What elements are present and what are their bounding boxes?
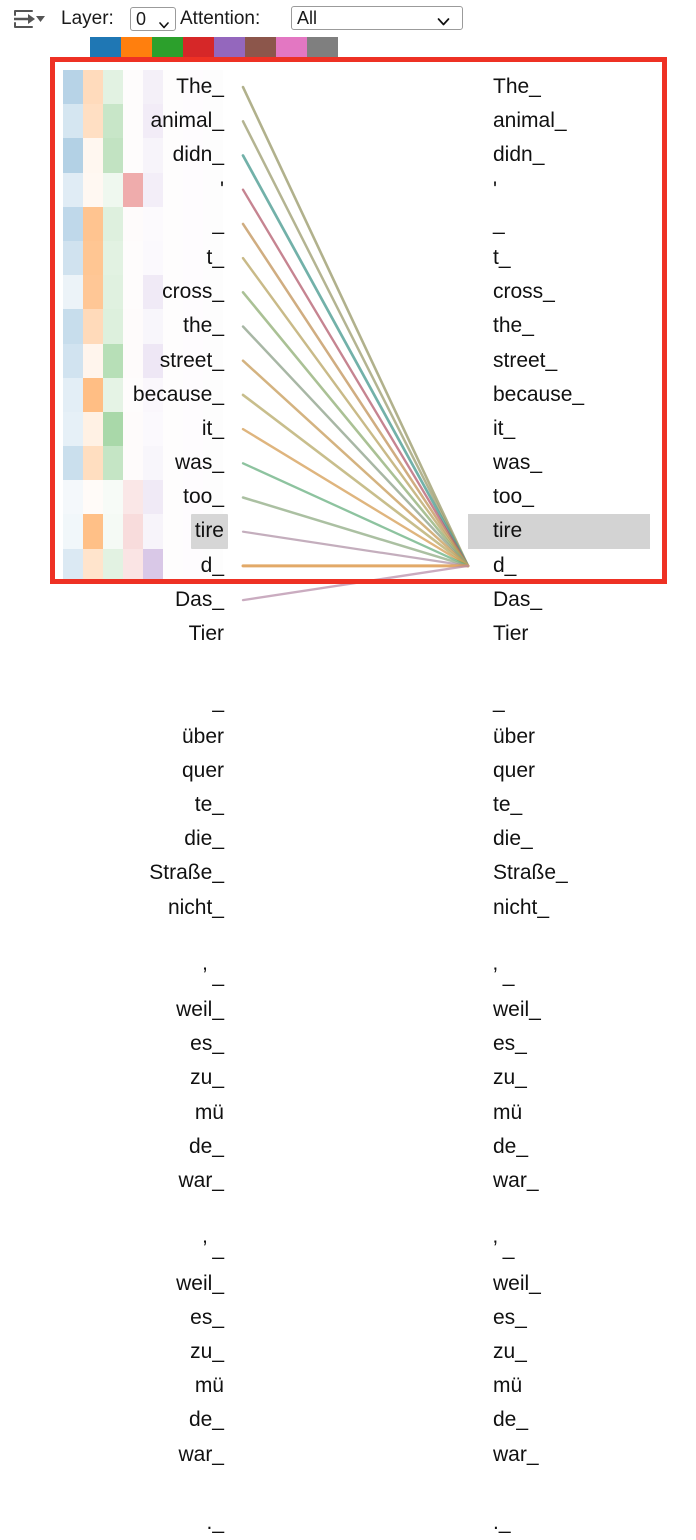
target-token[interactable]: too_ — [468, 480, 696, 514]
source-token[interactable]: nicht_ — [0, 891, 232, 925]
source-token[interactable]: es_ — [0, 1301, 232, 1335]
token-text: tire — [493, 519, 522, 542]
token-text: t_ — [493, 246, 511, 269]
token-text: d_ — [493, 554, 516, 577]
token-text: too_ — [493, 485, 534, 508]
token-text: de_ — [493, 1135, 528, 1158]
target-token[interactable]: mü — [468, 1369, 696, 1403]
target-token[interactable]: The_ — [468, 70, 696, 104]
source-token[interactable]: mü — [0, 1096, 232, 1130]
token-text: war_ — [493, 1443, 539, 1466]
target-token[interactable]: weil_ — [468, 1267, 696, 1301]
token-text: ’ _ — [493, 964, 514, 987]
token-text: the_ — [493, 314, 534, 337]
token-text: zu_ — [493, 1340, 527, 1363]
source-token[interactable]: quer — [0, 754, 232, 788]
source-token[interactable]: cross_ — [0, 275, 232, 309]
target-token[interactable]: _ — [468, 207, 696, 241]
token-text: Straße_ — [145, 856, 228, 890]
source-token[interactable]: ' — [0, 173, 232, 207]
token-text: _ — [208, 207, 228, 241]
source-token[interactable]: war_ — [0, 1164, 232, 1198]
target-token[interactable]: it_ — [468, 412, 696, 446]
source-token[interactable]: es_ — [0, 1027, 232, 1061]
token-text: ' — [216, 173, 228, 207]
source-token[interactable]: too_ — [0, 480, 232, 514]
token-text: de_ — [185, 1403, 228, 1437]
target-token[interactable]: didn_ — [468, 138, 696, 172]
target-token[interactable]: _ — [468, 685, 696, 719]
source-token[interactable]: Straße_ — [0, 856, 232, 890]
token-text: street_ — [156, 344, 228, 378]
token-text: te_ — [191, 788, 228, 822]
token-text: d_ — [197, 549, 228, 583]
source-token[interactable]: de_ — [0, 1403, 232, 1437]
source-token[interactable]: it_ — [0, 412, 232, 446]
token-text: die_ — [493, 827, 533, 850]
token-text: ' — [493, 178, 497, 201]
token-text: mü — [191, 1369, 228, 1403]
source-token[interactable]: weil_ — [0, 1267, 232, 1301]
target-token[interactable]: de_ — [468, 1130, 696, 1164]
target-token[interactable]: zu_ — [468, 1061, 696, 1095]
target-token[interactable] — [468, 925, 696, 959]
source-token[interactable]: ’ _ — [0, 1232, 232, 1266]
target-token[interactable]: mü — [468, 1096, 696, 1130]
token-text: was_ — [171, 446, 228, 480]
source-token[interactable]: _ — [0, 207, 232, 241]
token-text: Das_ — [171, 583, 228, 617]
token-text: because_ — [493, 383, 584, 406]
target-token[interactable] — [468, 1472, 696, 1506]
source-token[interactable]: street_ — [0, 344, 232, 378]
token-text: weil_ — [172, 993, 228, 1027]
token-text: t_ — [202, 241, 228, 275]
target-token[interactable]: because_ — [468, 378, 696, 412]
target-token[interactable]: cross_ — [468, 275, 696, 309]
source-token[interactable]: t_ — [0, 241, 232, 275]
source-token[interactable] — [0, 925, 232, 959]
target-token[interactable]: war_ — [468, 1164, 696, 1198]
target-token[interactable]: te_ — [468, 788, 696, 822]
token-text: die_ — [180, 822, 228, 856]
target-token[interactable]: ._ — [468, 1506, 696, 1540]
token-text: street_ — [493, 349, 557, 372]
token-text: it_ — [493, 417, 515, 440]
source-token[interactable]: because_ — [0, 378, 232, 412]
token-text: _ — [493, 690, 505, 713]
target-token[interactable]: ’ _ — [468, 1232, 696, 1266]
token-text: quer — [178, 754, 228, 788]
token-text: de_ — [185, 1130, 228, 1164]
source-token[interactable]: zu_ — [0, 1061, 232, 1095]
target-token[interactable]: the_ — [468, 309, 696, 343]
token-text: war_ — [493, 1169, 539, 1192]
source-token[interactable]: de_ — [0, 1130, 232, 1164]
token-text: zu_ — [493, 1066, 527, 1089]
token-text: mü — [493, 1101, 522, 1124]
token-text: the_ — [179, 309, 228, 343]
source-token[interactable]: war_ — [0, 1438, 232, 1472]
target-token[interactable]: Straße_ — [468, 856, 696, 890]
token-text: war_ — [174, 1164, 228, 1198]
target-token[interactable]: ' — [468, 173, 696, 207]
source-token[interactable]: die_ — [0, 822, 232, 856]
source-token[interactable]: didn_ — [0, 138, 232, 172]
source-token[interactable]: ._ — [0, 1506, 232, 1540]
target-token-column: The_animal_didn_'_t_cross_the_street_bec… — [468, 70, 696, 1540]
token-text: _ — [208, 685, 228, 719]
source-token[interactable]: The_ — [0, 70, 232, 104]
target-token[interactable]: es_ — [468, 1301, 696, 1335]
token-text: Das_ — [493, 588, 542, 611]
token-text: The_ — [172, 70, 228, 104]
token-text: cross_ — [493, 280, 555, 303]
token-text: weil_ — [493, 998, 541, 1021]
token-text: nicht_ — [493, 896, 549, 919]
source-token[interactable]: d_ — [0, 549, 232, 583]
source-token[interactable]: tire — [0, 514, 232, 548]
target-token[interactable]: nicht_ — [468, 891, 696, 925]
source-token[interactable] — [0, 1472, 232, 1506]
token-text: Tier — [185, 617, 228, 651]
token-text: ._ — [493, 1511, 511, 1534]
token-text: was_ — [493, 451, 542, 474]
token-text: animal_ — [493, 109, 567, 132]
target-token[interactable]: tire — [468, 514, 650, 548]
source-token[interactable]: über — [0, 720, 232, 754]
source-token[interactable]: Das_ — [0, 583, 232, 617]
target-token[interactable]: zu_ — [468, 1335, 696, 1369]
target-token[interactable]: was_ — [468, 446, 696, 480]
target-token[interactable] — [468, 651, 696, 685]
target-token[interactable]: war_ — [468, 1438, 696, 1472]
attention-visualization: The_animal_didn_'_t_cross_the_street_bec… — [0, 0, 696, 1373]
token-text: ’ _ — [199, 959, 228, 993]
target-token[interactable]: Das_ — [468, 583, 696, 617]
token-text: ’ _ — [493, 1237, 514, 1260]
source-token[interactable]: Tier — [0, 617, 232, 651]
target-token[interactable]: quer — [468, 754, 696, 788]
token-text: es_ — [186, 1027, 228, 1061]
source-token[interactable]: mü — [0, 1369, 232, 1403]
token-text: mü — [191, 1096, 228, 1130]
source-token[interactable]: the_ — [0, 309, 232, 343]
token-text: didn_ — [169, 138, 228, 172]
source-token[interactable]: te_ — [0, 788, 232, 822]
target-token[interactable]: street_ — [468, 344, 696, 378]
target-token[interactable]: d_ — [468, 549, 696, 583]
target-token[interactable] — [468, 1198, 696, 1232]
target-token[interactable]: über — [468, 720, 696, 754]
token-text: es_ — [186, 1301, 228, 1335]
token-text: cross_ — [158, 275, 228, 309]
token-text: nicht_ — [164, 891, 228, 925]
token-text: ._ — [202, 1506, 228, 1540]
token-text: de_ — [493, 1408, 528, 1431]
token-text: because_ — [129, 378, 228, 412]
token-text: ’ _ — [199, 1232, 228, 1266]
target-token[interactable]: animal_ — [468, 104, 696, 138]
target-token[interactable]: weil_ — [468, 993, 696, 1027]
token-text: te_ — [493, 793, 522, 816]
token-text: Straße_ — [493, 861, 568, 884]
source-token-column: The_animal_didn_'_t_cross_the_street_bec… — [0, 70, 232, 1540]
source-token[interactable]: weil_ — [0, 993, 232, 1027]
token-text: es_ — [493, 1306, 527, 1329]
token-text: über — [178, 720, 228, 754]
token-text: war_ — [174, 1438, 228, 1472]
token-text: Tier — [493, 622, 528, 645]
source-token[interactable]: animal_ — [0, 104, 232, 138]
source-token[interactable] — [0, 1198, 232, 1232]
token-text: animal_ — [146, 104, 228, 138]
token-text: too_ — [179, 480, 228, 514]
token-text: tire — [191, 514, 228, 548]
target-token[interactable]: es_ — [468, 1027, 696, 1061]
target-token[interactable]: die_ — [468, 822, 696, 856]
target-token[interactable]: de_ — [468, 1403, 696, 1437]
token-text: zu_ — [186, 1061, 228, 1095]
token-text: it_ — [198, 412, 228, 446]
token-text: weil_ — [172, 1267, 228, 1301]
source-token[interactable]: was_ — [0, 446, 232, 480]
token-text: über — [493, 725, 535, 748]
source-token[interactable] — [0, 651, 232, 685]
source-token[interactable]: zu_ — [0, 1335, 232, 1369]
target-token[interactable]: ’ _ — [468, 959, 696, 993]
token-text: mü — [493, 1374, 522, 1397]
source-token[interactable]: _ — [0, 685, 232, 719]
token-text: quer — [493, 759, 535, 782]
target-token[interactable]: t_ — [468, 241, 696, 275]
token-text: _ — [493, 212, 505, 235]
token-text: zu_ — [186, 1335, 228, 1369]
target-token[interactable]: Tier — [468, 617, 696, 651]
source-token[interactable]: ’ _ — [0, 959, 232, 993]
token-text: The_ — [493, 75, 541, 98]
token-text: es_ — [493, 1032, 527, 1055]
token-text: weil_ — [493, 1272, 541, 1295]
token-text: didn_ — [493, 143, 544, 166]
